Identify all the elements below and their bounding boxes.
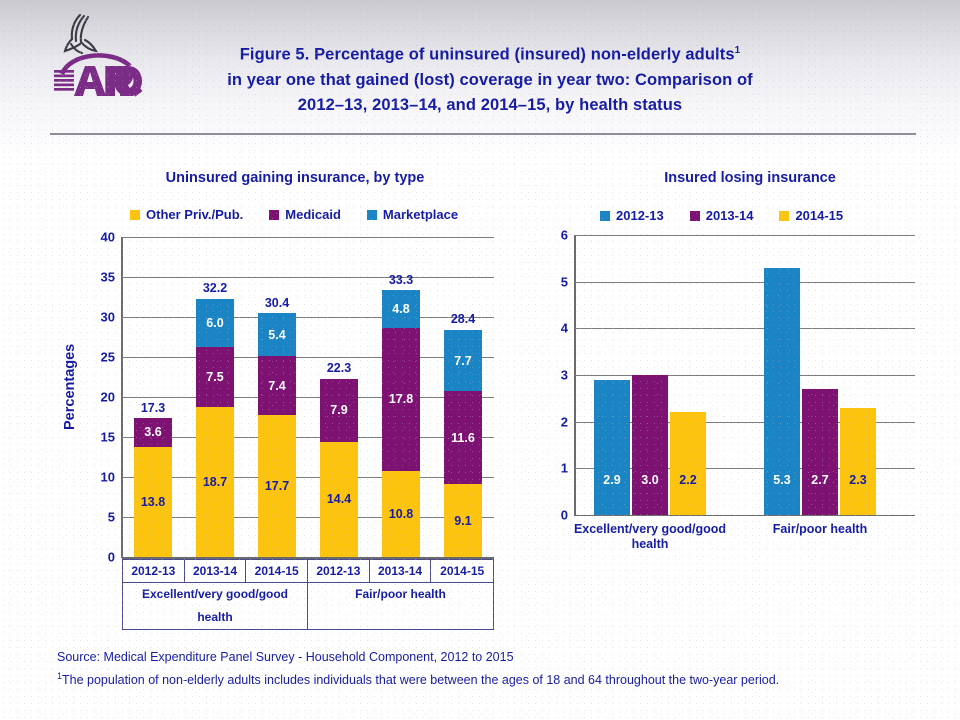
ahrq-logo	[44, 8, 152, 104]
left-chart-segment-value: 3.6	[134, 425, 172, 439]
right-chart-ytick: 3	[561, 368, 568, 383]
legend-swatch-2012-13	[600, 211, 610, 221]
legend-label-medicaid: Medicaid	[285, 207, 341, 222]
left-chart-gridline	[122, 357, 494, 358]
figure-page: Figure 5. Percentage of uninsured (insur…	[0, 0, 960, 720]
left-chart-segment-value: 4.8	[382, 302, 420, 316]
left-chart-segment-value: 14.4	[320, 492, 358, 506]
left-chart-bar[interactable]: 13.83.617.3	[134, 419, 172, 557]
figure-title-line3: 2012–13, 2013–14, and 2014–15, by health…	[298, 96, 682, 114]
left-chart-gridline	[122, 397, 494, 398]
left-chart-bar-segment[interactable]: 4.8	[382, 290, 420, 328]
left-chart-ytick: 15	[101, 430, 115, 445]
left-chart-bar[interactable]: 9.111.67.728.4	[444, 330, 482, 557]
left-chart-bar-segment[interactable]: 7.9	[320, 379, 358, 442]
left-chart-bar-segment[interactable]: 5.4	[258, 313, 296, 356]
left-chart-total-value: 28.4	[444, 312, 482, 326]
figure-title: Figure 5. Percentage of uninsured (insur…	[140, 38, 840, 118]
left-chart-gridline	[122, 477, 494, 478]
right-chart-gridline	[575, 328, 915, 329]
right-chart-legend: 2012-13 2013-14 2014-15	[600, 208, 843, 223]
legend-item-medicaid[interactable]: Medicaid	[269, 207, 341, 222]
legend-item-other-priv-pub[interactable]: Other Priv./Pub.	[130, 207, 243, 222]
legend-swatch-medicaid	[269, 210, 279, 220]
left-chart-ytick: 35	[101, 270, 115, 285]
left-chart-ytick: 40	[101, 230, 115, 245]
right-chart-ytick: 0	[561, 508, 568, 523]
left-chart-bar-segment[interactable]: 7.7	[444, 330, 482, 392]
right-chart-ytick: 5	[561, 274, 568, 289]
left-chart-gridline	[122, 277, 494, 278]
legend-item-2013-14[interactable]: 2013-14	[690, 208, 754, 223]
left-chart-bar-segment[interactable]: 17.7	[258, 415, 296, 557]
right-chart-bar[interactable]: 5.3	[764, 268, 800, 515]
left-chart-bar-segment[interactable]: 9.1	[444, 484, 482, 557]
left-chart-total-value: 30.4	[258, 296, 296, 310]
left-chart-bar-segment[interactable]: 13.8	[134, 447, 172, 557]
left-chart-segment-value: 6.0	[196, 316, 234, 330]
legend-swatch-2013-14	[690, 211, 700, 221]
left-chart-segment-value: 17.7	[258, 479, 296, 493]
legend-label-2014-15: 2014-15	[795, 208, 843, 223]
left-chart-year-cell: 2013-14	[185, 560, 247, 582]
ahrq-logo-svg	[44, 8, 152, 104]
right-chart-gridline	[575, 282, 915, 283]
left-chart-bar-segment[interactable]: 6.0	[196, 299, 234, 347]
left-chart-ytick: 0	[108, 550, 115, 565]
left-chart-segment-value: 13.8	[134, 495, 172, 509]
right-chart-ytick: 4	[561, 321, 568, 336]
right-chart-bar-value: 5.3	[764, 473, 800, 487]
right-chart-title: Insured losing insurance	[540, 170, 960, 186]
left-chart-bar[interactable]: 17.77.45.430.4	[258, 314, 296, 557]
right-chart-gridline	[575, 375, 915, 376]
left-chart-segment-value: 7.5	[196, 370, 234, 384]
left-chart-bar-segment[interactable]: 7.4	[258, 356, 296, 415]
right-chart-plot: 01234562.93.02.2Excellent/very good/good…	[575, 235, 915, 515]
right-chart-x-axis	[575, 515, 915, 516]
left-chart-bar-segment[interactable]: 11.6	[444, 391, 482, 484]
left-chart-bar[interactable]: 10.817.84.833.3	[382, 291, 420, 557]
left-chart-segment-value: 18.7	[196, 475, 234, 489]
left-chart-bar-segment[interactable]: 7.5	[196, 347, 234, 407]
left-chart-year-cell: 2014-15	[431, 560, 493, 582]
legend-swatch-marketplace	[367, 210, 377, 220]
footer-notes: Source: Medical Expenditure Panel Survey…	[57, 648, 927, 690]
left-chart-gridline	[122, 437, 494, 438]
left-chart-segment-value: 7.7	[444, 354, 482, 368]
right-chart-bar[interactable]: 2.9	[594, 380, 630, 515]
right-chart-gridline	[575, 235, 915, 236]
right-chart-bar[interactable]: 2.3	[840, 408, 876, 515]
legend-label-2013-14: 2013-14	[706, 208, 754, 223]
left-chart-bar-segment[interactable]: 17.8	[382, 328, 420, 470]
right-chart-ytick: 6	[561, 228, 568, 243]
left-chart-group-row: Excellent/very good/good healthFair/poor…	[123, 582, 493, 629]
right-chart-bar-value: 2.9	[594, 473, 630, 487]
left-chart-bar[interactable]: 14.47.922.3	[320, 379, 358, 557]
legend-swatch-2014-15	[779, 211, 789, 221]
right-chart-bar-value: 2.2	[670, 473, 706, 487]
left-chart-bar-segment[interactable]: 18.7	[196, 407, 234, 557]
left-chart-legend: Other Priv./Pub. Medicaid Marketplace	[130, 207, 458, 222]
left-chart-year-cell: 2013-14	[370, 560, 432, 582]
legend-label-2012-13: 2012-13	[616, 208, 664, 223]
right-chart-bar-value: 3.0	[632, 473, 668, 487]
legend-label-other-priv-pub: Other Priv./Pub.	[146, 207, 243, 222]
figure-title-line2: in year one that gained (lost) coverage …	[227, 71, 753, 89]
legend-swatch-other-priv-pub	[130, 210, 140, 220]
hhs-eagle-icon	[65, 15, 96, 53]
left-chart-ytick: 25	[101, 350, 115, 365]
right-chart-bar[interactable]: 3.0	[632, 375, 668, 515]
left-chart-gridline	[122, 237, 494, 238]
legend-item-2014-15[interactable]: 2014-15	[779, 208, 843, 223]
right-chart-bar-value: 2.3	[840, 473, 876, 487]
left-chart-segment-value: 9.1	[444, 514, 482, 528]
left-chart-bar[interactable]: 18.77.56.032.2	[196, 299, 234, 557]
left-chart-segment-value: 5.4	[258, 328, 296, 342]
left-chart-total-value: 32.2	[196, 281, 234, 295]
footer-note-text: The population of non-elderly adults inc…	[62, 673, 779, 687]
ahrq-wordmark	[54, 66, 142, 97]
left-chart-ytick: 10	[101, 470, 115, 485]
left-chart-segment-value: 7.9	[320, 403, 358, 417]
left-chart-year-cell: 2014-15	[246, 560, 308, 582]
left-chart-plot: 051015202530354013.83.617.318.77.56.032.…	[122, 237, 494, 557]
left-chart-year-cell: 2012-13	[308, 560, 370, 582]
right-chart-bar[interactable]: 2.7	[802, 389, 838, 515]
left-chart-group-cell: Excellent/very good/good health	[123, 582, 308, 629]
legend-label-marketplace: Marketplace	[383, 207, 458, 222]
left-chart-ytick: 20	[101, 390, 115, 405]
left-chart-year-row: 2012-132013-142014-152012-132013-142014-…	[123, 560, 493, 582]
left-chart-segment-value: 17.8	[382, 392, 420, 406]
left-chart-segment-value: 10.8	[382, 507, 420, 521]
legend-item-2012-13[interactable]: 2012-13	[600, 208, 664, 223]
right-chart-bar-value: 2.7	[802, 473, 838, 487]
header-divider	[50, 133, 916, 135]
figure-title-footnote-marker: 1	[735, 45, 741, 56]
footer-note: 1The population of non-elderly adults in…	[57, 667, 927, 690]
left-chart-ytick: 5	[108, 510, 115, 525]
left-chart-ylabel: Percentages	[62, 344, 78, 430]
right-chart-ytick: 2	[561, 414, 568, 429]
left-chart-total-value: 33.3	[382, 273, 420, 287]
right-chart-category-label: Excellent/very good/good health	[565, 522, 735, 552]
right-chart-category-label: Fair/poor health	[735, 522, 905, 537]
left-chart-bar-segment[interactable]: 14.4	[320, 442, 358, 557]
legend-item-marketplace[interactable]: Marketplace	[367, 207, 458, 222]
left-chart-ytick: 30	[101, 310, 115, 325]
left-chart-bar-segment[interactable]: 3.6	[134, 418, 172, 447]
left-chart-total-value: 17.3	[134, 401, 172, 415]
footer-source: Source: Medical Expenditure Panel Survey…	[57, 648, 927, 667]
left-chart-category-table: 2012-132013-142014-152012-132013-142014-…	[122, 559, 494, 630]
left-chart-year-cell: 2012-13	[123, 560, 185, 582]
left-chart-gridline	[122, 317, 494, 318]
left-chart-bar-segment[interactable]: 10.8	[382, 471, 420, 557]
left-chart-segment-value: 11.6	[444, 431, 482, 445]
left-chart-gridline	[122, 517, 494, 518]
left-chart-segment-value: 7.4	[258, 379, 296, 393]
left-chart-group-cell: Fair/poor health	[308, 582, 493, 629]
left-chart-title: Uninsured gaining insurance, by type	[60, 170, 530, 186]
figure-title-line1: Figure 5. Percentage of uninsured (insur…	[240, 46, 735, 64]
right-chart-ytick: 1	[561, 461, 568, 476]
right-chart-bar[interactable]: 2.2	[670, 412, 706, 515]
left-chart-total-value: 22.3	[320, 361, 358, 375]
